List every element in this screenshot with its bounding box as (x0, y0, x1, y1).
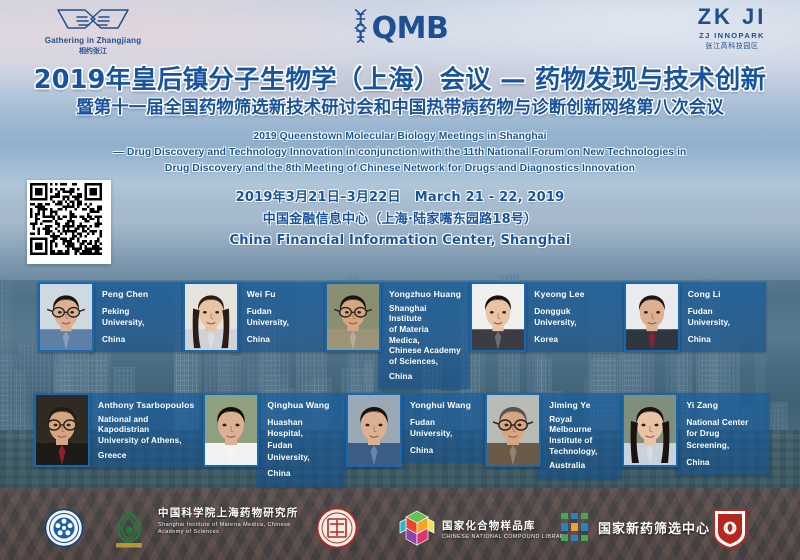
speaker-country: China (688, 334, 757, 345)
zkji-wordmark: ZK JI (680, 6, 784, 28)
speaker-row-1: Peng ChenPeking University,China Wei FuF… (38, 282, 766, 389)
speaker-country: China (267, 468, 337, 479)
speaker-affiliation: National and Kapodistrian University of … (98, 415, 194, 447)
sponsor-compound-library: 国家化合物样品库 CHINESE NATIONAL COMPOUND LIBRA… (398, 510, 568, 551)
speaker-card: Peng ChenPeking University,China (38, 282, 183, 389)
title-english-line2: — Drug Discovery and Technology Innovati… (0, 145, 800, 161)
speaker-affiliation: Fudan University, (410, 417, 476, 440)
event-date-cn: 2019年3月21日–3月22日 (236, 190, 401, 205)
speaker-country: Korea (534, 334, 614, 345)
speaker-portrait (622, 393, 678, 467)
speaker-portrait (34, 393, 90, 467)
speaker-name: Kyeong Lee (534, 289, 614, 301)
speaker-name: Anthony Tsarbopoulos (98, 400, 194, 412)
speaker-card: Kyeong LeeDongguk University,Korea (470, 282, 623, 389)
speaker-country: China (102, 334, 174, 345)
speaker-info: Wei FuFudan University,China (236, 282, 325, 352)
speaker-country: China (389, 371, 461, 382)
speaker-name: Peng Chen (102, 289, 174, 301)
speaker-affiliation: Huashan Hospital, Fudan University, (267, 417, 337, 464)
compound-library-cn: 国家化合物样品库 (442, 520, 568, 533)
qmb-logo: QMB (352, 8, 449, 49)
speaker-info: Kyeong LeeDongguk University,Korea (523, 282, 623, 352)
speaker-portrait (325, 282, 381, 352)
speaker-affiliation: Fudan University, (247, 306, 316, 329)
zj-innopark-logo: ZK JI ZJ INNOPARK 张江高科技园区 (680, 6, 784, 51)
title-block: 2019年皇后镇分子生物学（上海）会议 — 药物发现与技术创新 暨第十一届全国药… (0, 66, 800, 251)
speaker-affiliation: Dongguk University, (534, 306, 614, 329)
speaker-portrait (203, 393, 259, 467)
speaker-affiliation: National Center for Drug Screening, (686, 417, 761, 452)
speaker-info: Yonghui WangFudan University,China (399, 393, 485, 463)
title-english-line1: 2019 Queenstown Molecular Biology Meetin… (0, 129, 800, 145)
qmb-wordmark: QMB (372, 11, 449, 46)
title-english-line3: Drug Discovery and the 8th Meeting of Ch… (0, 161, 800, 177)
drug-screening-center-cn: 国家新药筛选中心 (598, 522, 710, 538)
conference-poster: Gathering in Zhangjiang 相约张江 QMB ZK JI Z… (0, 0, 800, 560)
speaker-name: Yi Zang (686, 400, 761, 412)
event-date-line: 2019年3月21日–3月22日March 21 - 22, 2019 (0, 187, 800, 208)
speaker-portrait (485, 393, 541, 467)
sponsor-bar: 中国科学院上海药物研究所 Shanghai Institute of Mater… (0, 498, 800, 560)
speaker-card: Yi ZangNational Center for Drug Screenin… (622, 393, 770, 487)
sponsor-green-leaf (112, 510, 146, 553)
speaker-card: Cong LiFudan University,China (624, 282, 766, 389)
zhangjiang-logo-cn: 相约张江 (18, 46, 168, 56)
simm-name-en: Shanghai Institute of Materia Medica, Ch… (158, 522, 298, 537)
speaker-info: Yongzhuo HuangShanghai Institute of Mate… (378, 282, 470, 389)
sponsor-drug-screening-center: 国家新药筛选中心 (558, 511, 710, 548)
speaker-row-2: Anthony TsarbopoulosNational and Kapodis… (34, 393, 770, 487)
red-shield-icon (710, 506, 750, 555)
zhangjiang-logo-en: Gathering in Zhangjiang (18, 36, 168, 45)
mosaic-icon (558, 511, 592, 548)
speaker-country: China (247, 334, 316, 345)
speaker-info: Jiming YeRoyal Melbourne Institute of Te… (538, 393, 622, 479)
speaker-info: Yi ZangNational Center for Drug Screenin… (675, 393, 770, 475)
speaker-card: Qinghua WangHuashan Hospital, Fudan Univ… (203, 393, 346, 487)
sponsor-red-seal (316, 507, 358, 554)
event-meta: 2019年3月21日–3月22日March 21 - 22, 2019 中国金融… (0, 187, 800, 251)
speaker-portrait (346, 393, 402, 467)
speaker-affiliation: Fudan University, (688, 306, 757, 329)
speaker-card: Yongzhuo HuangShanghai Institute of Mate… (325, 282, 470, 389)
logo-bar: Gathering in Zhangjiang 相约张江 QMB ZK JI Z… (0, 0, 800, 62)
speaker-name: Qinghua Wang (267, 400, 337, 412)
handshake-icon (18, 5, 168, 35)
simm-seal-icon (44, 508, 84, 553)
speaker-name: Yongzhuo Huang (389, 289, 461, 301)
qr-code[interactable] (27, 180, 111, 264)
speaker-country: China (686, 457, 761, 468)
sponsor-simm-name: 中国科学院上海药物研究所 Shanghai Institute of Mater… (152, 507, 298, 536)
speaker-card: Jiming YeRoyal Melbourne Institute of Te… (485, 393, 622, 487)
speaker-country: China (410, 445, 476, 456)
speaker-name: Wei Fu (247, 289, 316, 301)
speaker-name: Jiming Ye (549, 400, 613, 412)
dna-helix-icon (352, 8, 370, 49)
speaker-country: Australia (549, 460, 613, 471)
speaker-info: Cong LiFudan University,China (677, 282, 766, 352)
title-english: 2019 Queenstown Molecular Biology Meetin… (0, 129, 800, 177)
speaker-portrait (38, 282, 94, 352)
event-venue-en: China Financial Information Center, Shan… (0, 230, 800, 251)
speaker-info: Peng ChenPeking University,China (91, 282, 183, 352)
compound-library-en: CHINESE NATIONAL COMPOUND LIBRARY (442, 534, 568, 541)
red-seal-icon (316, 507, 358, 554)
zkji-logo-en: ZJ INNOPARK (680, 31, 784, 40)
event-date-en: March 21 - 22, 2019 (415, 190, 565, 205)
zkji-logo-cn: 张江高科技园区 (680, 41, 784, 51)
sponsor-simm-seal (44, 508, 84, 553)
event-venue-cn: 中国金融信息中心（上海·陆家嘴东园路18号） (0, 209, 800, 230)
speaker-affiliation: Royal Melbourne Institute of Technology, (549, 415, 613, 458)
gathering-in-zhangjiang-logo: Gathering in Zhangjiang 相约张江 (18, 5, 168, 56)
speaker-name: Cong Li (688, 289, 757, 301)
speaker-name: Yonghui Wang (410, 400, 476, 412)
speaker-affiliation: Shanghai Institute of Materia Medica, Ch… (389, 304, 461, 368)
speaker-country: Greece (98, 450, 194, 461)
green-leaf-icon (112, 510, 146, 553)
sponsor-red-shield (710, 506, 750, 555)
speaker-info: Qinghua WangHuashan Hospital, Fudan Univ… (256, 393, 346, 487)
title-chinese-secondary: 暨第十一届全国药物筛选新技术研讨会和中国热带病药物与诊断创新网络第八次会议 (0, 98, 800, 119)
speaker-affiliation: Peking University, (102, 306, 174, 329)
speaker-portrait (624, 282, 680, 352)
speaker-portrait (470, 282, 526, 352)
speaker-card: Anthony TsarbopoulosNational and Kapodis… (34, 393, 203, 487)
speaker-card: Yonghui WangFudan University,China (346, 393, 485, 487)
title-chinese-primary: 2019年皇后镇分子生物学（上海）会议 — 药物发现与技术创新 (0, 66, 800, 95)
speaker-info: Anthony TsarbopoulosNational and Kapodis… (87, 393, 203, 468)
color-cube-icon (398, 510, 436, 551)
simm-name-cn: 中国科学院上海药物研究所 (158, 507, 298, 520)
speaker-card: Wei FuFudan University,China (183, 282, 325, 389)
drug-screening-center-text: 国家新药筛选中心 (598, 522, 710, 538)
simm-name-text: 中国科学院上海药物研究所 Shanghai Institute of Mater… (158, 507, 298, 536)
speaker-portrait (183, 282, 239, 352)
compound-library-text: 国家化合物样品库 CHINESE NATIONAL COMPOUND LIBRA… (442, 520, 568, 542)
